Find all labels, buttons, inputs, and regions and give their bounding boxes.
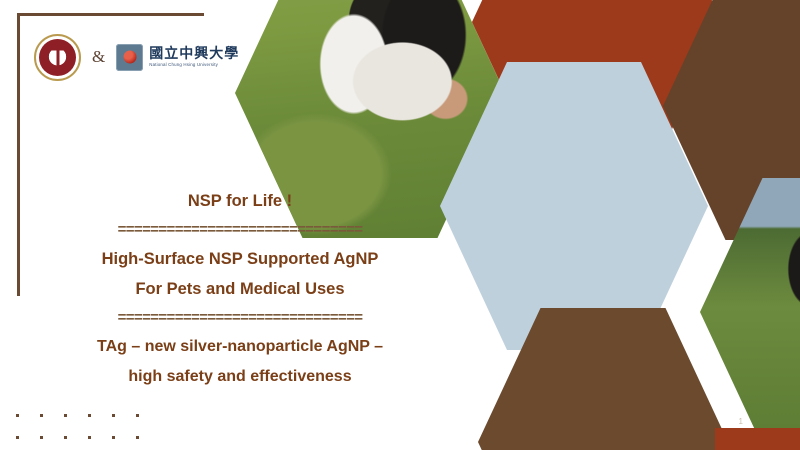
subtitle-line-1: TAg – new silver-nanoparticle AgNP –: [20, 332, 460, 362]
separator-line-1: ==============================: [20, 216, 460, 244]
dot: [64, 414, 67, 417]
dot: [88, 436, 91, 439]
presentation-slide: 1 & 國立中興大學 National Chung Hsing Universi…: [0, 0, 800, 450]
dot: [64, 436, 67, 439]
subtitle-line-2: high safety and effectiveness: [20, 362, 460, 392]
heading-line-1: High-Surface NSP Supported AgNP: [20, 244, 460, 274]
dot: [136, 414, 139, 417]
nchu-square-mark-icon: [116, 44, 143, 71]
nchu-logo-text: 國立中興大學 National Chung Hsing University: [149, 47, 239, 67]
dot: [136, 436, 139, 439]
hex-photo-dog-sitting: [700, 178, 800, 446]
university-crest-icon: [34, 34, 81, 81]
slide-text-block: NSP for Life ! =========================…: [20, 186, 460, 392]
nchu-english-name: National Chung Hsing University: [149, 63, 239, 68]
nchu-logo: 國立中興大學 National Chung Hsing University: [116, 44, 239, 71]
dot: [112, 436, 115, 439]
dog-sitting-in-park-image: [700, 178, 800, 446]
bottom-accent-bar: [715, 428, 800, 450]
dot: [112, 414, 115, 417]
logo-row: & 國立中興大學 National Chung Hsing University: [34, 32, 239, 82]
dot: [88, 414, 91, 417]
nchu-chinese-name: 國立中興大學: [149, 47, 239, 62]
slide-number: 1: [739, 417, 743, 426]
tagline-text: NSP for Life !: [20, 186, 460, 216]
separator-line-2: ==============================: [20, 304, 460, 332]
ampersand-label: &: [90, 47, 107, 67]
dot: [16, 436, 19, 439]
dot-grid-decoration: [16, 404, 160, 448]
dot: [16, 414, 19, 417]
heading-line-2: For Pets and Medical Uses: [20, 274, 460, 304]
frame-top-line: [17, 13, 204, 16]
dot: [40, 414, 43, 417]
dot: [40, 436, 43, 439]
